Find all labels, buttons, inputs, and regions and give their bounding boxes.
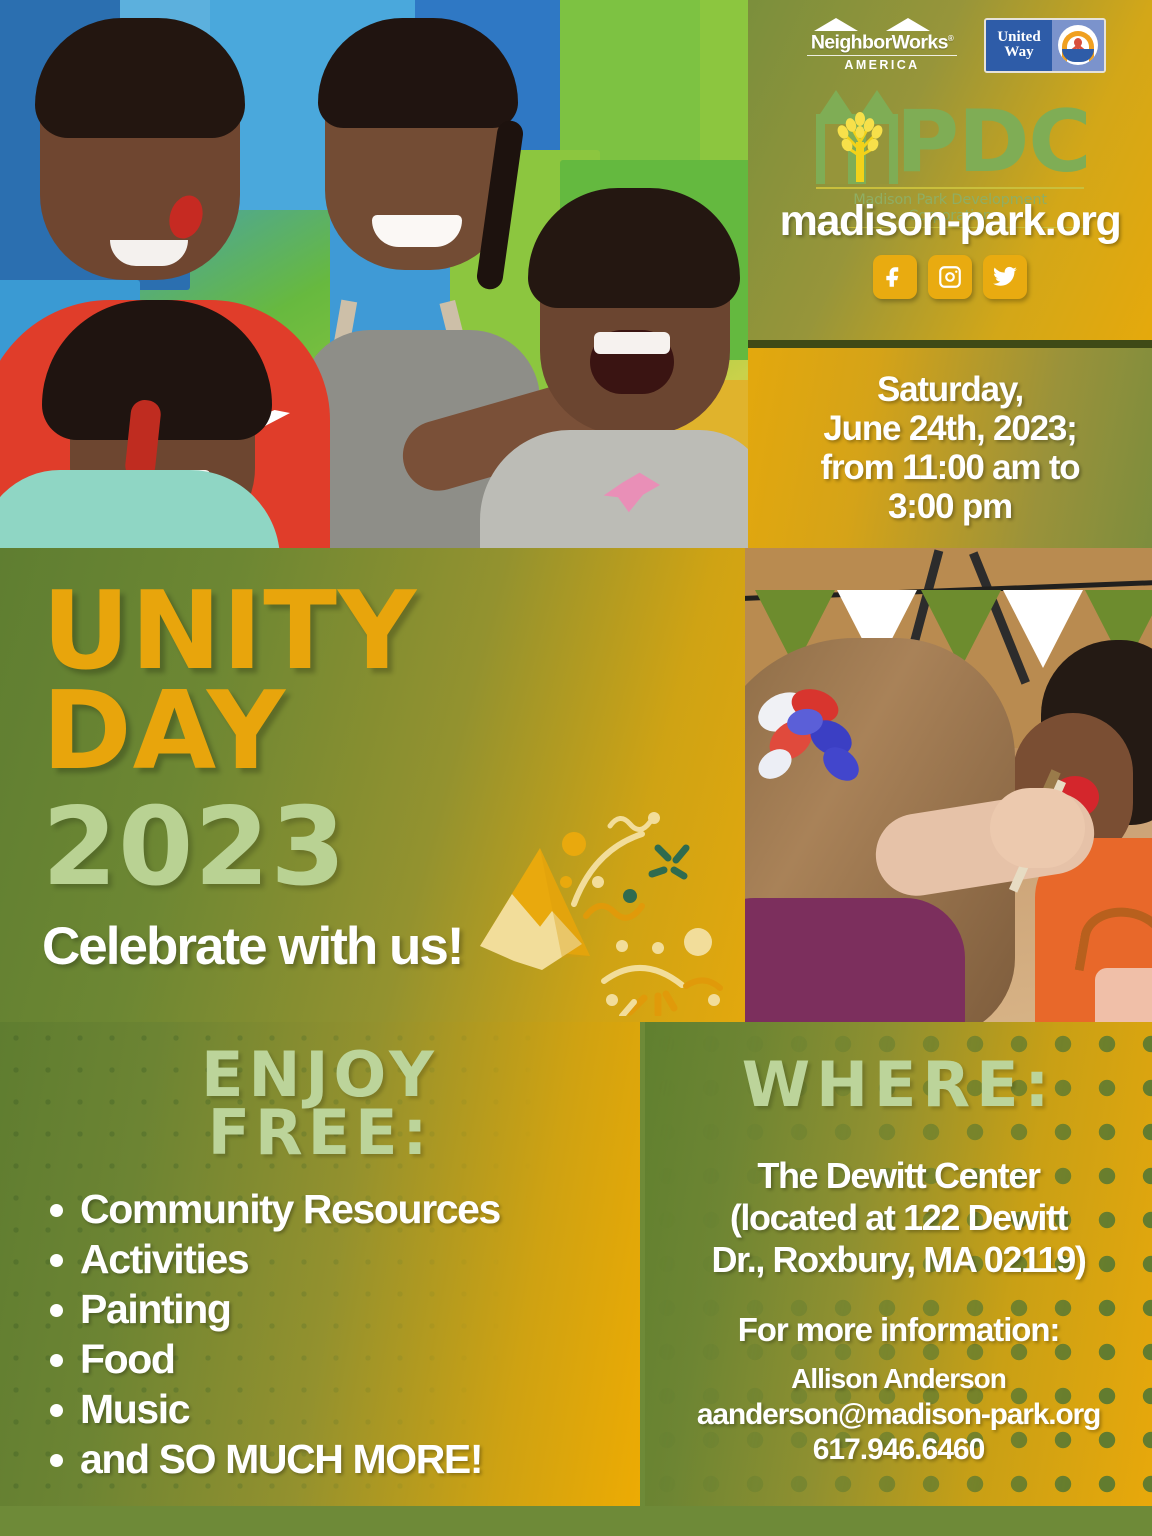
neighborworks-sub: AMERICA: [794, 58, 970, 72]
more-info-label: For more information:: [645, 1311, 1152, 1349]
list-item: Community Resources: [34, 1184, 640, 1234]
list-item: Activities: [34, 1234, 640, 1284]
event-date-block: Saturday, June 24th, 2023; from 11:00 am…: [748, 348, 1152, 548]
date-line-1: Saturday,: [821, 370, 1080, 409]
mpdc-letters: PDC: [896, 100, 1091, 184]
instagram-icon[interactable]: [928, 255, 972, 299]
neighborworks-wordmark: NeighborWorks®: [794, 29, 970, 53]
website-social-block: madison-park.org: [748, 196, 1152, 340]
neighborworks-logo: NeighborWorks® AMERICA: [794, 18, 970, 72]
title-line-unity: UNITY: [42, 584, 417, 680]
date-line-2: June 24th, 2023;: [821, 409, 1080, 448]
where-heading: WHERE:: [645, 1048, 1152, 1121]
venue-address: The Dewitt Center (located at 122 Dewitt…: [645, 1155, 1152, 1281]
event-date-text: Saturday, June 24th, 2023; from 11:00 am…: [821, 370, 1080, 526]
contact-name: Allison Anderson: [645, 1363, 1152, 1395]
painter-hand: [990, 788, 1085, 868]
house-roof-icon: [794, 18, 970, 31]
website-url[interactable]: madison-park.org: [780, 196, 1121, 246]
youth-group-photo: [0, 0, 748, 548]
list-item: and SO MUCH MORE!: [34, 1434, 640, 1484]
united-way-wordmark: United Way: [986, 20, 1052, 71]
tree-icon: [834, 104, 886, 182]
section-divider: [748, 340, 1152, 348]
contact-phone[interactable]: 617.946.6460: [645, 1433, 1152, 1467]
face-painting-photo: [745, 548, 1152, 1022]
event-title-panel: UNITY DAY 2023 Celebrate with us!: [0, 548, 748, 1022]
enjoy-heading-line2: FREE:: [0, 1104, 640, 1162]
enjoy-free-list: Community Resources Activities Painting …: [34, 1184, 640, 1484]
venue-line-2: (located at 122 Dewitt: [653, 1197, 1144, 1239]
united-way-rainbow-icon: [1052, 20, 1104, 71]
title-tagline: Celebrate with us!: [42, 916, 462, 977]
party-popper-confetti-icon: [462, 786, 742, 1016]
partner-row: NeighborWorks® AMERICA United Way: [794, 14, 1106, 76]
date-line-4: 3:00 pm: [821, 487, 1080, 526]
list-item: Food: [34, 1334, 640, 1384]
list-item: Painting: [34, 1284, 640, 1334]
facebook-icon[interactable]: [873, 255, 917, 299]
footer-strip: [0, 1506, 1152, 1536]
venue-line-1: The Dewitt Center: [653, 1155, 1144, 1197]
contact-email[interactable]: aanderson@madison-park.org: [645, 1397, 1152, 1433]
mpdc-house-tree-icon: [816, 90, 898, 184]
title-line-day: DAY: [42, 684, 286, 780]
enjoy-free-heading: ENJOY FREE:: [0, 1046, 640, 1162]
flyer-root: NeighborWorks® AMERICA United Way: [0, 0, 1152, 1536]
social-links: [873, 255, 1027, 299]
date-line-3: from 11:00 am to: [821, 448, 1080, 487]
title-year: 2023: [42, 798, 347, 898]
where-panel: WHERE: The Dewitt Center (located at 122…: [645, 1022, 1152, 1506]
painter-shirt: [745, 898, 965, 1022]
divider-line: [807, 55, 957, 57]
list-item: Music: [34, 1384, 640, 1434]
united-way-logo: United Way: [984, 18, 1106, 73]
twitter-icon[interactable]: [983, 255, 1027, 299]
hair-bow-icon: [753, 678, 873, 788]
venue-line-3: Dr., Roxbury, MA 02119): [653, 1239, 1144, 1281]
enjoy-free-panel: ENJOY FREE: Community Resources Activiti…: [0, 1022, 640, 1506]
